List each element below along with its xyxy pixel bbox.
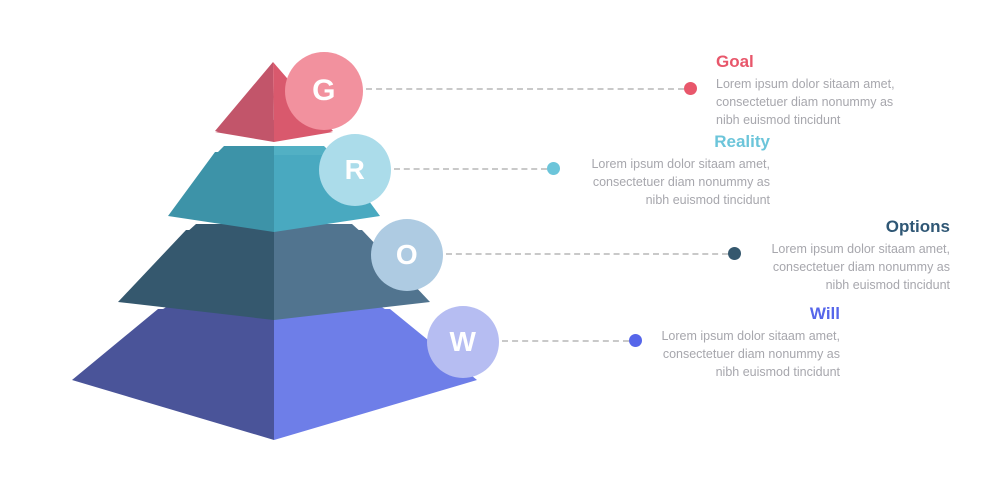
level-title-options: Options (720, 217, 950, 237)
level-title-goal: Goal (716, 52, 956, 72)
level-badge-goal-letter: G (312, 74, 336, 108)
level-title-reality: Reality (540, 132, 770, 152)
reality-deck-left (215, 146, 274, 155)
connector-line-reality (394, 168, 547, 170)
level-title-will: Will (610, 304, 840, 324)
level-text-reality: Reality Lorem ipsum dolor sitaam amet, c… (540, 132, 770, 209)
pyramid-level-will (72, 302, 477, 440)
will-left-face (72, 309, 274, 440)
infographic-canvas: G R O W Goal Lorem ipsum dolor sitaam am… (0, 0, 1000, 486)
level-text-goal: Goal Lorem ipsum dolor sitaam amet, cons… (716, 52, 956, 129)
level-badge-will[interactable]: W (427, 306, 499, 378)
level-description-will: Lorem ipsum dolor sitaam amet, consectet… (610, 327, 840, 381)
level-description-goal: Lorem ipsum dolor sitaam amet, consectet… (716, 75, 956, 129)
level-badge-reality-letter: R (345, 154, 366, 186)
level-badge-reality[interactable]: R (319, 134, 391, 206)
reality-left-face (168, 152, 274, 232)
level-badge-options-letter: O (396, 239, 418, 271)
level-badge-options[interactable]: O (371, 219, 443, 291)
level-text-will: Will Lorem ipsum dolor sitaam amet, cons… (610, 304, 840, 381)
connector-line-options (446, 253, 728, 255)
goal-apex-left-face (215, 62, 274, 131)
level-badge-will-letter: W (450, 326, 477, 358)
level-description-options: Lorem ipsum dolor sitaam amet, consectet… (720, 240, 950, 294)
level-badge-goal[interactable]: G (285, 52, 363, 130)
options-left-face (118, 230, 274, 320)
connector-dot-goal (684, 82, 697, 95)
level-description-reality: Lorem ipsum dolor sitaam amet, consectet… (540, 155, 770, 209)
level-text-options: Options Lorem ipsum dolor sitaam amet, c… (720, 217, 950, 294)
connector-line-goal (366, 88, 684, 90)
